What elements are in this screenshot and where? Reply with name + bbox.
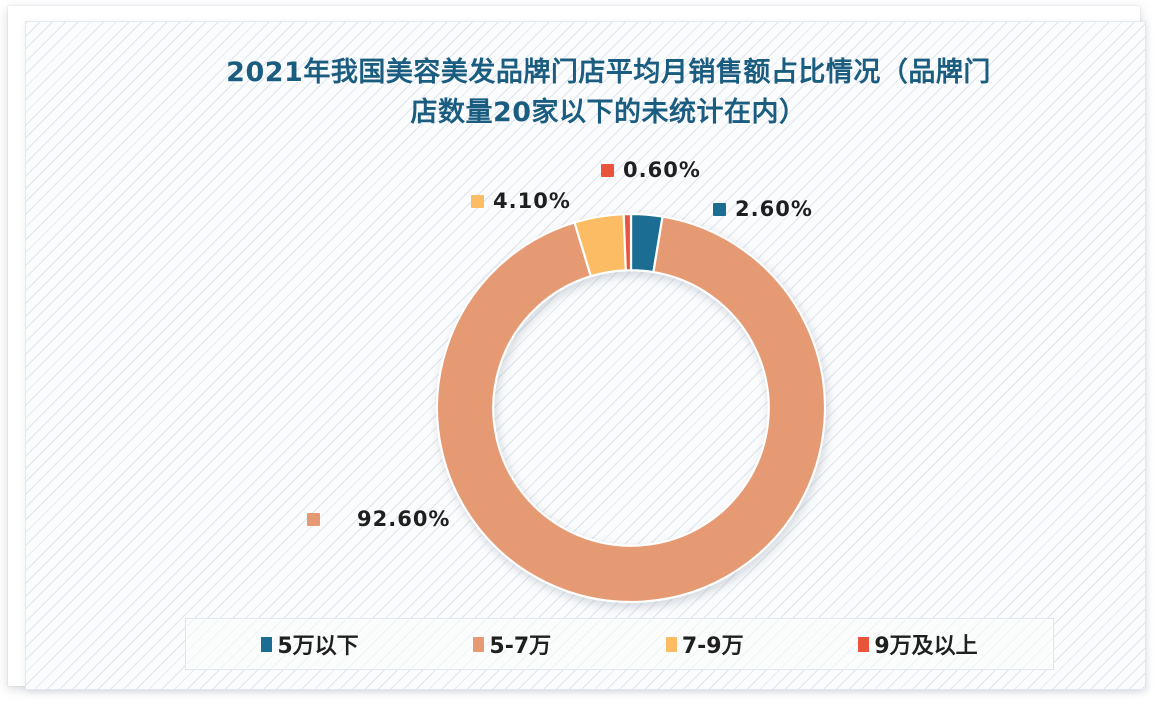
donut-svg xyxy=(425,202,837,614)
data-label-swatch-amber xyxy=(471,195,484,208)
data-label-swatch-salmon xyxy=(307,513,320,526)
legend-swatch-blue xyxy=(261,637,272,652)
legend-label: 9万及以上 xyxy=(874,628,977,660)
legend-swatch-amber xyxy=(666,637,677,652)
chart-outer-frame: 2021年我国美容美发品牌门店平均月销售额占比情况（品牌门 店数量20家以下的未… xyxy=(8,6,1140,686)
data-label-7-9wan: 4.10% xyxy=(471,189,571,213)
data-label-5-7wan: 92.60% xyxy=(307,507,450,531)
chart-screenshot: 2021年我国美容美发品牌门店平均月销售额占比情况（品牌门 店数量20家以下的未… xyxy=(0,0,1166,714)
data-label-value: 2.60% xyxy=(735,197,813,221)
chart-panel: 2021年我国美容美发品牌门店平均月销售额占比情况（品牌门 店数量20家以下的未… xyxy=(25,21,1146,690)
data-label-value: 0.60% xyxy=(623,158,701,182)
legend-item-5-7wan[interactable]: 5-7万 xyxy=(473,628,551,660)
legend-label: 7-9万 xyxy=(682,628,744,660)
data-label-swatch-red xyxy=(601,164,614,177)
chart-title: 2021年我国美容美发品牌门店平均月销售额占比情况（品牌门 店数量20家以下的未… xyxy=(121,53,1096,133)
data-label-swatch-blue xyxy=(713,203,726,216)
data-label-5wan-yixia: 2.60% xyxy=(713,197,813,221)
donut-slice-3[interactable] xyxy=(624,214,631,270)
legend-label: 5万以下 xyxy=(277,628,358,660)
data-label-value: 4.10% xyxy=(493,189,571,213)
chart-title-line-2: 店数量20家以下的未统计在内） xyxy=(121,93,1096,133)
data-label-value: 92.60% xyxy=(357,507,450,531)
donut-slice-group xyxy=(437,214,825,602)
chart-legend: 5万以下 5-7万 7-9万 9万及以上 xyxy=(185,618,1054,670)
donut-slice-1[interactable] xyxy=(437,217,825,602)
legend-swatch-salmon xyxy=(473,637,484,652)
legend-swatch-red xyxy=(858,637,869,652)
donut-chart xyxy=(425,202,837,614)
chart-title-line-1: 2021年我国美容美发品牌门店平均月销售额占比情况（品牌门 xyxy=(121,53,1096,93)
data-label-9wan-jiyishang: 0.60% xyxy=(601,158,701,182)
legend-label: 5-7万 xyxy=(489,628,551,660)
legend-item-9wan-jiyishang[interactable]: 9万及以上 xyxy=(858,628,977,660)
legend-item-7-9wan[interactable]: 7-9万 xyxy=(666,628,744,660)
legend-item-5wan-yixia[interactable]: 5万以下 xyxy=(261,628,358,660)
